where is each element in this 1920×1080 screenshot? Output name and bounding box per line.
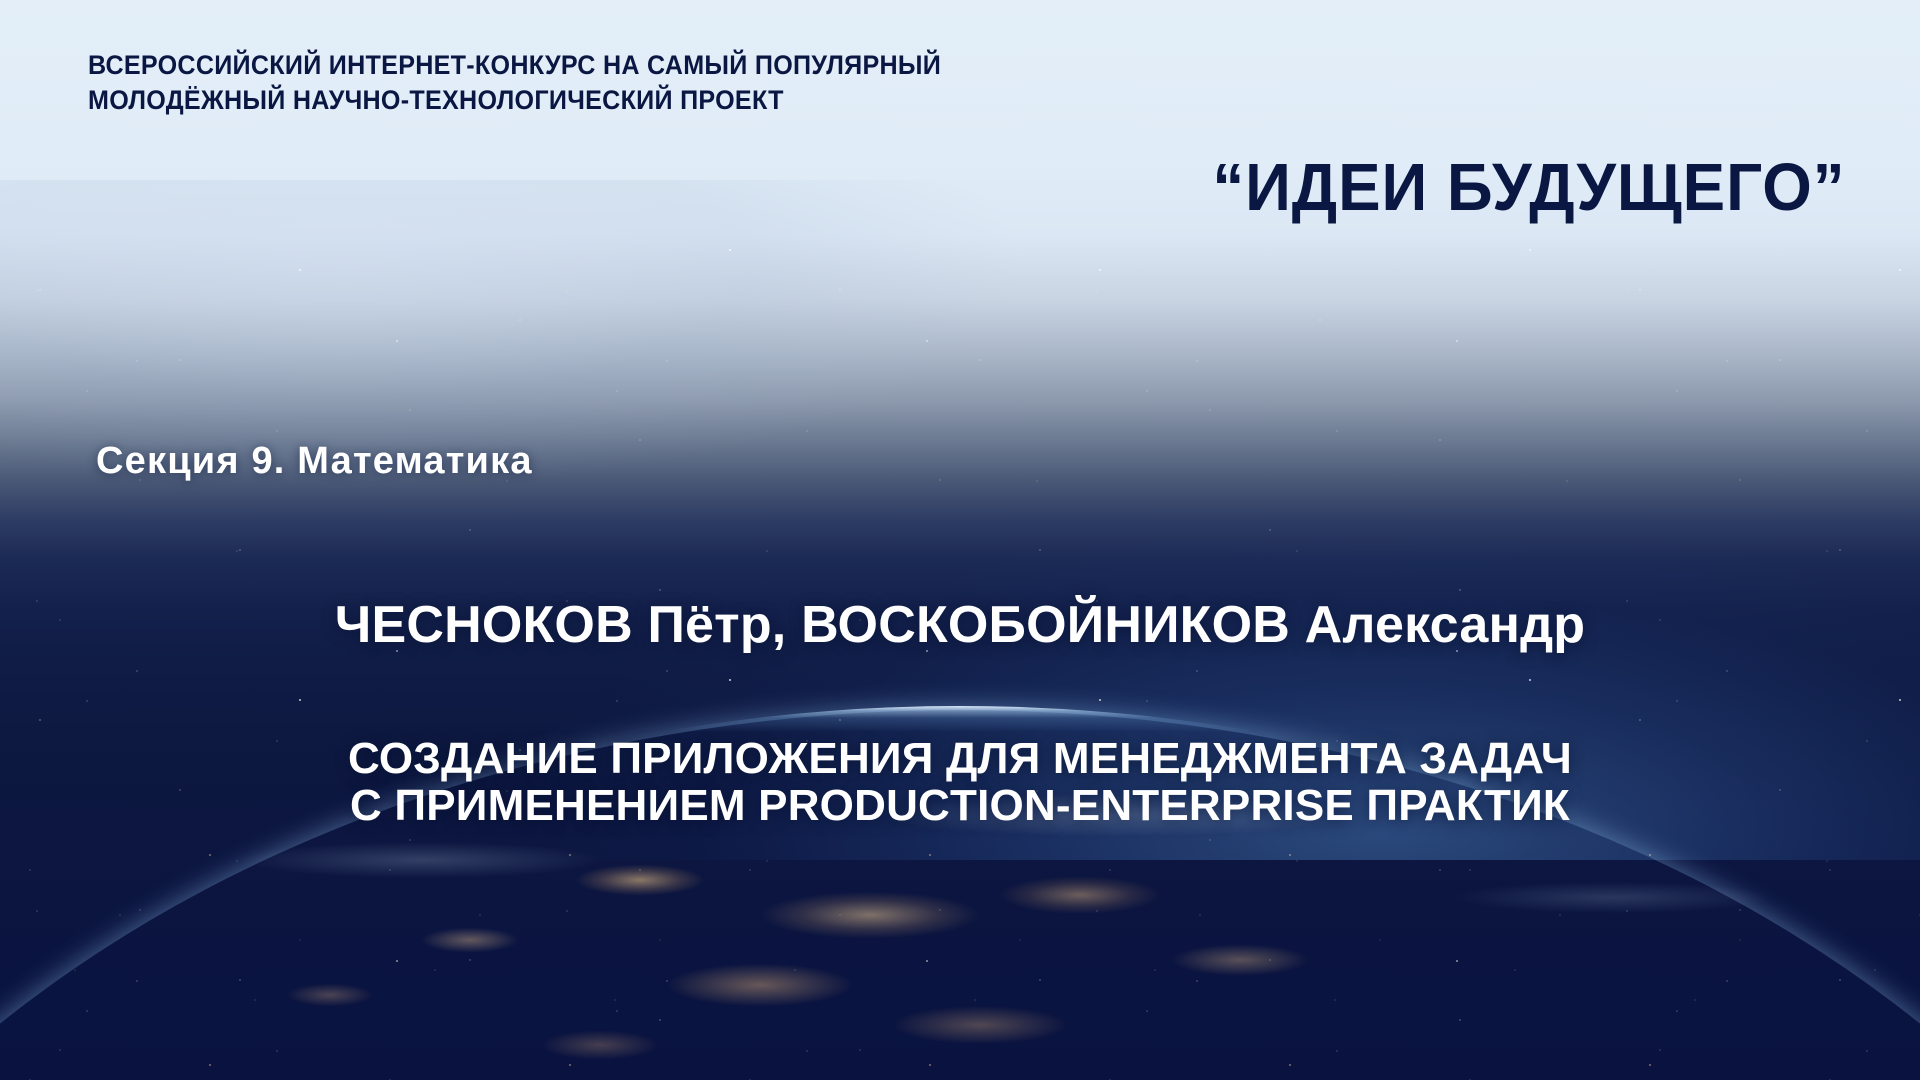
slide-content: ВСЕРОССИЙСКИЙ ИНТЕРНЕТ-КОНКУРС НА САМЫЙ … bbox=[0, 0, 1920, 1080]
presentation-slide: ВСЕРОССИЙСКИЙ ИНТЕРНЕТ-КОНКУРС НА САМЫЙ … bbox=[0, 0, 1920, 1080]
section-label: Секция 9. Математика bbox=[96, 440, 533, 483]
project-title: СОЗДАНИЕ ПРИЛОЖЕНИЯ ДЛЯ МЕНЕДЖМЕНТА ЗАДА… bbox=[0, 736, 1920, 829]
competition-heading-line-1: ВСЕРОССИЙСКИЙ ИНТЕРНЕТ-КОНКУРС НА САМЫЙ … bbox=[88, 48, 1297, 83]
competition-heading: ВСЕРОССИЙСКИЙ ИНТЕРНЕТ-КОНКУРС НА САМЫЙ … bbox=[88, 48, 1297, 118]
competition-heading-line-2: МОЛОДЁЖНЫЙ НАУЧНО-ТЕХНОЛОГИЧЕСКИЙ ПРОЕКТ bbox=[88, 83, 1297, 118]
main-title: “ИДЕИ БУДУЩЕГО” bbox=[1213, 154, 1846, 221]
authors-names: ЧЕСНОКОВ Пётр, ВОСКОБОЙНИКОВ Александр bbox=[0, 595, 1920, 655]
project-title-line-2: С ПРИМЕНЕНИЕМ PRODUCTION-ENTERPRISE ПРАК… bbox=[0, 783, 1920, 830]
project-title-line-1: СОЗДАНИЕ ПРИЛОЖЕНИЯ ДЛЯ МЕНЕДЖМЕНТА ЗАДА… bbox=[0, 736, 1920, 783]
